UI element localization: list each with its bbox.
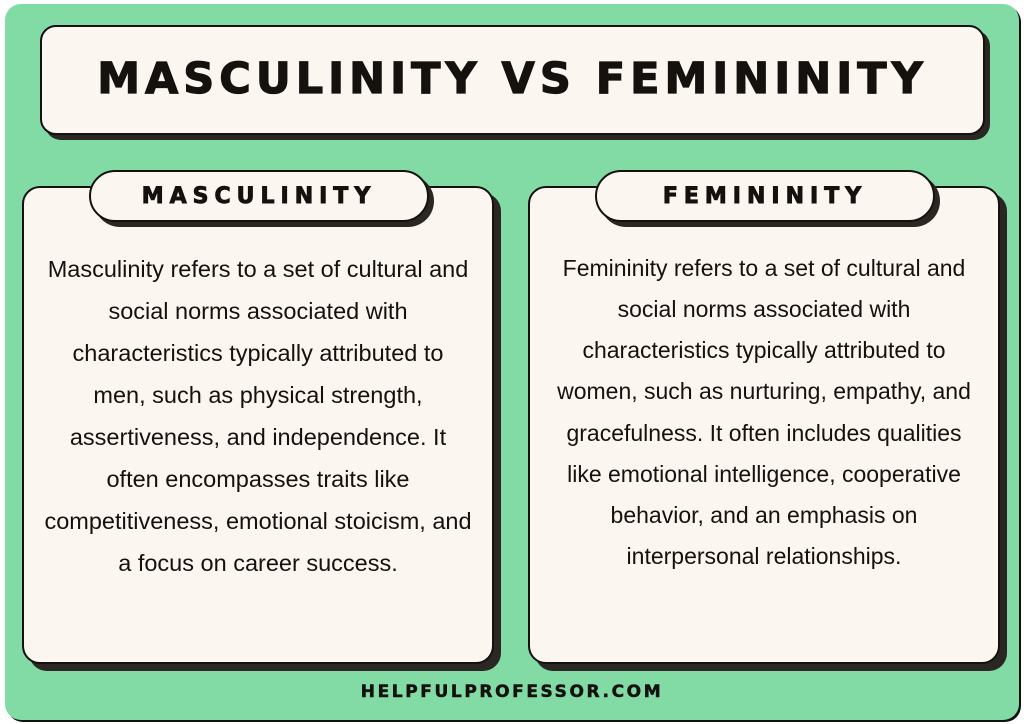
title-card: Masculinity vs Femininity	[40, 25, 985, 135]
infographic-panel: Masculinity vs Femininity Masculinity re…	[5, 4, 1019, 720]
footer: helpfulprofessor.com	[5, 682, 1019, 702]
column-header-pill-masculinity: Masculinity	[89, 170, 429, 222]
column-body: Femininity refers to a set of cultural a…	[528, 186, 1000, 664]
footer-attribution: helpfulprofessor.com	[361, 682, 664, 702]
column-header-pill-femininity: Femininity	[595, 170, 935, 222]
column-femininity: Femininity refers to a set of cultural a…	[523, 170, 1007, 666]
column-heading-label: Femininity	[663, 184, 867, 209]
column-body-text: Masculinity refers to a set of cultural …	[44, 248, 472, 585]
column-body-text: Femininity refers to a set of cultural a…	[550, 248, 978, 577]
comparison-columns: Masculinity refers to a set of cultural …	[5, 170, 1019, 670]
column-masculinity: Masculinity refers to a set of cultural …	[17, 170, 501, 666]
column-heading-label: Masculinity	[142, 184, 377, 209]
page-title: Masculinity vs Femininity	[81, 57, 944, 102]
column-body: Masculinity refers to a set of cultural …	[22, 186, 494, 664]
